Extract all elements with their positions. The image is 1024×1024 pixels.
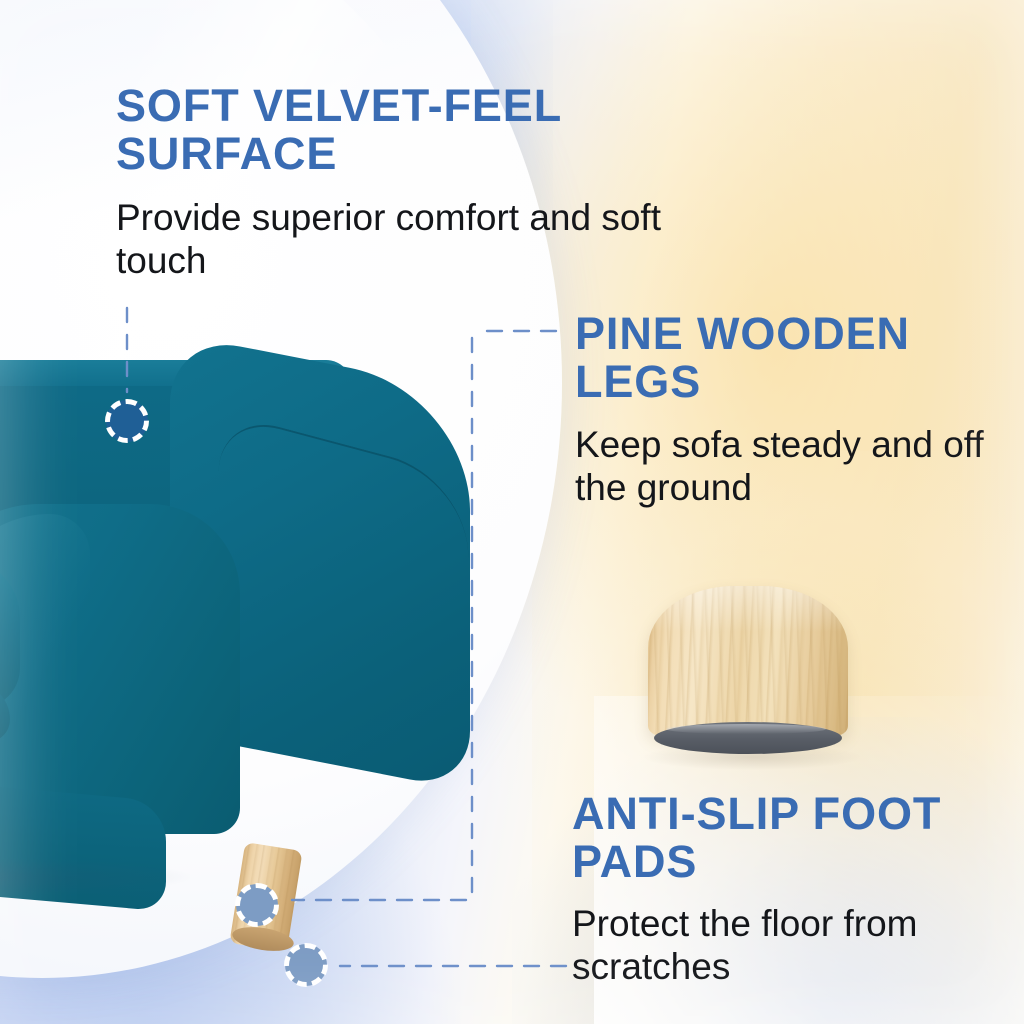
feature-body-legs: Keep sofa steady and off the ground	[575, 424, 995, 510]
feature-body-velvet: Provide superior comfort and soft touch	[116, 197, 726, 283]
feature-heading-pads: ANTI-SLIP FOOT PADS	[572, 790, 992, 885]
marker-wooden-leg[interactable]	[236, 884, 278, 926]
marker-dashed-ring-icon	[235, 883, 279, 927]
feature-body-pads: Protect the floor from scratches	[572, 903, 992, 989]
marker-dashed-ring-icon	[284, 943, 328, 987]
sofa-contact-shadow	[0, 857, 190, 897]
marker-anti-slip-pad[interactable]	[285, 944, 327, 986]
feature-block-legs: PINE WOODEN LEGS Keep sofa steady and of…	[575, 310, 995, 510]
infographic-canvas: SOFT VELVET-FEEL SURFACE Provide superio…	[0, 0, 1024, 1024]
foot-pad-top-highlight	[648, 586, 848, 632]
marker-velvet-surface[interactable]	[106, 400, 148, 442]
foot-pad-wood-cylinder	[648, 586, 848, 736]
marker-dashed-ring-icon	[105, 399, 149, 443]
feature-block-velvet: SOFT VELVET-FEEL SURFACE Provide superio…	[116, 82, 726, 283]
feature-heading-velvet: SOFT VELVET-FEEL SURFACE	[116, 82, 726, 177]
feature-block-pads: ANTI-SLIP FOOT PADS Protect the floor fr…	[572, 790, 992, 989]
feature-heading-legs: PINE WOODEN LEGS	[575, 310, 995, 405]
sofa-image	[0, 352, 480, 912]
anti-slip-pad-highlight	[666, 724, 826, 734]
foot-pad-image	[648, 586, 862, 768]
